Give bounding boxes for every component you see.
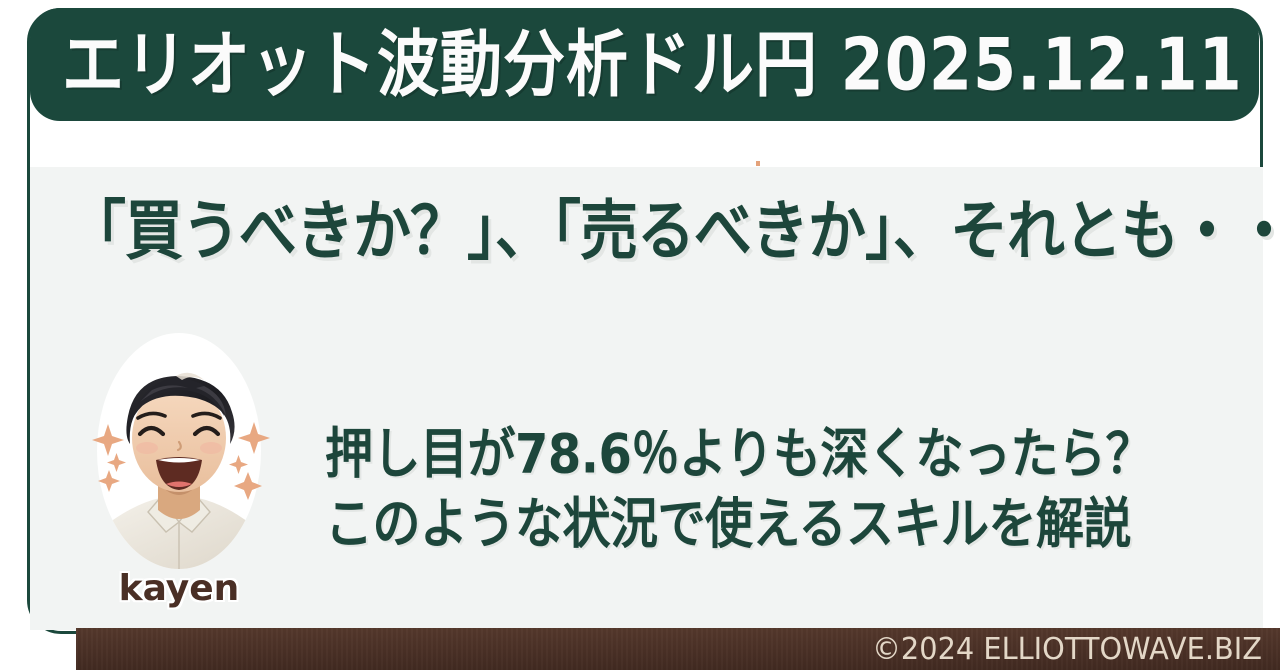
title-bar: エリオット波動分析ドル円 2025.12.11 (30, 8, 1259, 121)
avatar-illustration (78, 332, 280, 570)
headline-text: 「買うべきか？」、「売るべきか」、それとも・・・ (68, 196, 1248, 266)
avatar-name-label: kayen (68, 568, 290, 609)
copyright-text: ©2024 ELLIOTTOWAVE.BIZ (872, 632, 1262, 667)
decorative-speck (756, 161, 760, 166)
avatar: kayen (68, 332, 290, 622)
body-line-1: 押し目が78.6％よりも深くなったら？ (325, 420, 1225, 490)
thumbnail-root: エリオット波動分析ドル円 2025.12.11 「買うべきか？」、「売るべきか」… (0, 0, 1280, 670)
page-title: エリオット波動分析ドル円 2025.12.11 (62, 29, 1243, 101)
footer-bar: ©2024 ELLIOTTOWAVE.BIZ (76, 628, 1280, 670)
body-copy: 押し目が78.6％よりも深くなったら？ このような状況で使えるスキルを解説 (325, 420, 1225, 561)
body-line-2: このような状況で使えるスキルを解説 (325, 490, 1225, 560)
